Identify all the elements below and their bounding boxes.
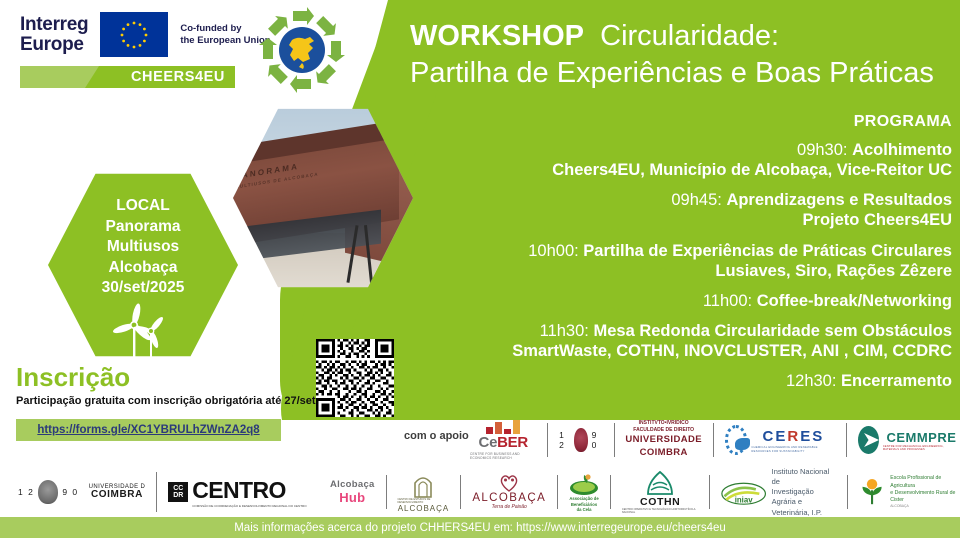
ij-text: INSTITVTO•IVRIDICO FACULDADE DE DIREITO … — [625, 420, 702, 459]
program-item-title: Partilha de Experiências de Práticas Cir… — [583, 242, 952, 260]
uc-crest-icon — [38, 480, 58, 504]
program-heading: PROGRAMA — [392, 113, 952, 131]
title-line-2: Partilha de Experiências e Boas Práticas — [410, 55, 955, 92]
uc-year-left: 1 2 — [559, 430, 570, 450]
workshop-poster: Interreg Europe Co-funded by t — [0, 0, 960, 538]
program-item-title: Mesa Redonda Circularidade sem Obstáculo… — [593, 322, 952, 340]
title-line-1: WORKSHOP Circularidade: — [410, 18, 955, 55]
program-item: 12h30: Encerramento — [392, 371, 952, 391]
logo-divider — [610, 475, 611, 509]
poster-title: WORKSHOP Circularidade: Partilha de Expe… — [410, 18, 955, 92]
alcobaca-arch-icon — [412, 472, 434, 498]
universidade-coimbra-seal: 1 2 9 0 — [559, 428, 602, 452]
centro-subtitle: COMISSÃO DE COORDENAÇÃO E DESENVOLVIMENT… — [192, 504, 306, 508]
program-item-time: 12h30: — [786, 372, 836, 390]
hub-line-2: Hub — [339, 490, 365, 505]
abc-text: Associação deBeneficiáriosda Cela — [569, 496, 598, 512]
logo-divider — [847, 475, 848, 509]
program-item-detail: SmartWaste, COTHN, INOVCLUSTER, ANI , CI… — [392, 341, 952, 361]
title-workshop-word: WORKSHOP — [410, 20, 584, 52]
uc-year-left: 1 2 — [18, 487, 34, 497]
alcobaca-municipio-logo: CENTRO DE ESTUDOS DE DESENVOLVIMENTO ALC… — [398, 472, 450, 513]
sponsor-row-top: CeBER CENTRE FOR BUSINESS AND ECONOMICS … — [470, 420, 960, 460]
ceber-logo: CeBER CENTRE FOR BUSINESS AND ECONOMICS … — [470, 420, 536, 460]
alcobaca-municipio-name: ALCOBAÇA — [398, 504, 450, 513]
program-item-line-1: 12h30: Encerramento — [392, 371, 952, 391]
program-item-detail: Lusiaves, Siro, Rações Zêzere — [392, 261, 952, 281]
epa-plant-icon — [859, 476, 885, 508]
program-item-line-1: 09h30: Acolhimento — [392, 140, 952, 160]
logo-divider — [614, 423, 615, 457]
alcobaca-turismo-name: ALCOBAÇA — [472, 492, 546, 504]
venue-date: 30/set/2025 — [48, 278, 238, 299]
program-section: PROGRAMA 09h30: Acolhimento Cheers4EU, M… — [392, 113, 952, 401]
ceres-mark-icon — [725, 425, 748, 455]
eu-flag-icon — [100, 12, 168, 57]
program-item: 09h30: Acolhimento Cheers4EU, Município … — [392, 140, 952, 180]
uc-crest-icon — [574, 428, 587, 452]
program-item-time: 10h00: — [528, 242, 578, 260]
program-item: 11h30: Mesa Redonda Circularidade sem Ob… — [392, 321, 952, 361]
uc-wordmark: UNIVERSIDADE D COIMBRA — [89, 484, 146, 501]
cothn-wordmark: COTHN — [640, 496, 680, 508]
ceber-bars-icon — [486, 420, 520, 434]
logo-divider — [557, 475, 558, 509]
program-item: 11h00: Coffee-break/Networking — [392, 291, 952, 311]
cemmpre-logo: CEMMPRE CENTRE FOR MECHANICAL ENGINEERIN… — [858, 426, 960, 454]
logo-divider — [713, 423, 714, 457]
program-item-time: 11h30: — [540, 322, 589, 340]
svg-text:iniav: iniav — [735, 496, 753, 505]
leaf-bowl-icon — [569, 472, 599, 496]
logo-divider — [709, 475, 710, 509]
cheers4eu-label: CHEERS4EU — [131, 69, 225, 85]
ccdr-box-icon: CCDR — [168, 482, 188, 502]
program-item-line-1: 11h30: Mesa Redonda Circularidade sem Ob… — [392, 321, 952, 341]
registration-heading: Inscrição — [16, 364, 316, 390]
sponsor-row-middle: Alcobaça Hub CENTRO DE ESTUDOS DE DESENV… — [330, 467, 960, 518]
program-item: 09h45: Aprendizagens e Resultados Projet… — [392, 190, 952, 230]
logo-divider — [547, 423, 548, 457]
uc-year-right: 9 0 — [592, 430, 603, 450]
registration-subtitle: Participação gratuita com inscrição obri… — [16, 395, 316, 407]
registration-section: Inscrição Participação gratuita com insc… — [16, 364, 316, 441]
registration-qr-code[interactable] — [316, 339, 394, 417]
footer-bar: Mais informações acerca do projeto CHHER… — [0, 517, 960, 538]
ccdr-centro-logo: CCDR CENTRO COMISSÃO DE COORDENAÇÃO E DE… — [168, 477, 306, 508]
program-item-detail: Projeto Cheers4EU — [392, 210, 952, 230]
uc-year-right: 9 0 — [62, 487, 78, 497]
centro-wordmark: CENTRO — [192, 477, 286, 504]
ceres-wordmark: CERES — [763, 428, 825, 445]
alcobaca-hub-logo: Alcobaça Hub — [330, 479, 375, 505]
program-item-title: Coffee-break/Networking — [757, 292, 952, 310]
cothn-subtitle: CENTRO OPERATIVO E TECNOLÓGICO HORTOFRUT… — [622, 508, 699, 514]
venue-label: LOCAL — [48, 196, 238, 217]
alcobaca-turismo-logo: ALCOBAÇA Terra de Paixão — [472, 474, 546, 510]
interreg-europe-logo: Interreg Europe Co-funded by t — [20, 12, 271, 88]
logo-divider — [156, 472, 157, 512]
venue-line-3: Alcobaça — [48, 258, 238, 279]
registration-link-bar[interactable]: https://forms.gle/XC1YBRULhZWnZA2q8 — [16, 419, 281, 441]
support-label: com o apoio — [404, 430, 469, 442]
cemmpre-wordmark: CEMMPRE — [886, 430, 956, 445]
footer-text: Mais informações acerca do projeto CHHER… — [234, 522, 726, 534]
hub-line-1: Alcobaça — [330, 479, 375, 490]
escola-profissional-agricultura-logo: Escola Profissional de Agriculturae Dese… — [859, 475, 960, 509]
universidade-coimbra-logo-full: 1 2 9 0 UNIVERSIDADE D COIMBRA — [18, 480, 145, 504]
program-item-line-1: 09h45: Aprendizagens e Resultados — [392, 190, 952, 210]
associacao-beneficiarios-cela-logo: Associação deBeneficiáriosda Cela — [569, 472, 599, 512]
program-item-line-1: 10h00: Partilha de Experiências de Práti… — [392, 241, 952, 261]
iniav-text: Instituto Nacional deInvestigação Agrári… — [772, 467, 837, 518]
venue-line-2: Multiusos — [48, 237, 238, 258]
alcobaca-heart-icon — [499, 474, 519, 492]
interreg-line-2: Europe — [20, 35, 88, 54]
program-item-time: 09h30: — [797, 141, 847, 159]
venue-text: LOCAL Panorama Multiusos Alcobaça 30/set… — [48, 196, 238, 299]
cothn-logo: COTHN CENTRO OPERATIVO E TECNOLÓGICO HOR… — [622, 470, 699, 514]
alcobaca-turismo-sub: Terra de Paixão — [492, 504, 527, 510]
title-subject: Circularidade: — [600, 20, 779, 52]
program-item: 10h00: Partilha de Experiências de Práti… — [392, 241, 952, 281]
interreg-line-1: Interreg — [20, 15, 88, 34]
cheers4eu-project-bar: CHEERS4EU — [20, 66, 235, 88]
instituto-juridico-logo: INSTITVTO•IVRIDICO FACULDADE DE DIREITO … — [625, 420, 702, 459]
circular-economy-emblem-icon — [258, 6, 346, 94]
venue-hexagon: LOCAL Panorama Multiusos Alcobaça 30/set… — [48, 170, 238, 360]
venue-line-1: Panorama — [48, 217, 238, 238]
cemmpre-mark-icon — [858, 426, 879, 454]
epa-text: Escola Profissional de Agriculturae Dese… — [890, 475, 960, 509]
cemmpre-subtitle: CENTRE FOR MECHANICAL ENGINEERING, MATER… — [883, 445, 960, 451]
logo-divider — [386, 475, 387, 509]
interreg-wordmark: Interreg Europe — [20, 15, 88, 54]
logo-divider — [846, 423, 847, 457]
program-item-title: Encerramento — [841, 372, 952, 390]
ceres-logo: CERES CHEMICAL ENGINEERING AND RENEWABLE… — [725, 425, 836, 455]
ceber-wordmark: CeBER — [479, 434, 528, 451]
program-item-time: 09h45: — [671, 191, 721, 209]
iniav-logo: iniav Instituto Nacional deInvestigação … — [721, 467, 836, 518]
iniav-mark-icon: iniav — [721, 477, 766, 507]
logo-divider — [460, 475, 461, 509]
ceber-subtitle: CENTRE FOR BUSINESS AND ECONOMICS RESEAR… — [470, 452, 536, 460]
program-item-title: Acolhimento — [852, 141, 952, 159]
cothn-leaf-icon — [646, 470, 674, 496]
program-item-time: 11h00: — [703, 292, 752, 310]
sponsor-row-bottom: 1 2 9 0 UNIVERSIDADE D COIMBRA CCDR CENT… — [0, 472, 307, 512]
program-item-title: Aprendizagens e Resultados — [726, 191, 952, 209]
ceres-subtitle: CHEMICAL ENGINEERING AND RENEWABLE RESOU… — [751, 445, 835, 453]
program-item-line-1: 11h00: Coffee-break/Networking — [392, 291, 952, 311]
program-item-detail: Cheers4EU, Município de Alcobaça, Vice-R… — [392, 160, 952, 180]
registration-form-link[interactable]: https://forms.gle/XC1YBRULhZWnZA2q8 — [37, 424, 259, 436]
